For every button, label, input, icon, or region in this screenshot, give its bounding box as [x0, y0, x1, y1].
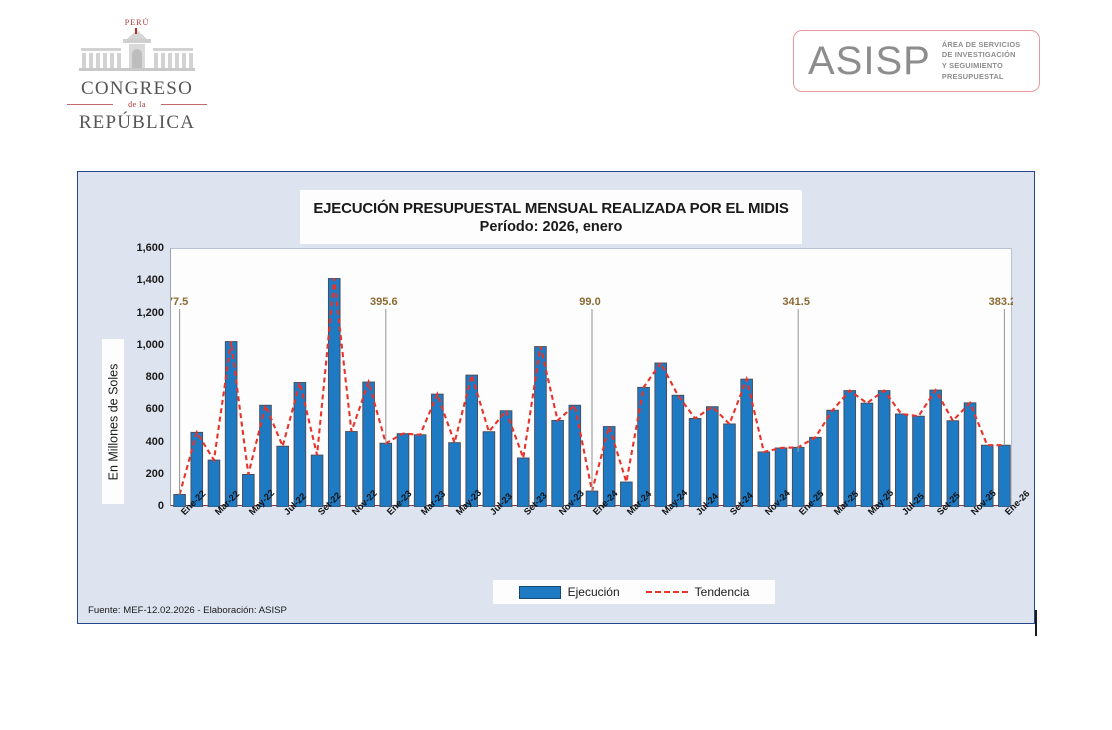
congreso-peru-label: PERÚ [125, 18, 149, 27]
y-axis-tick: 0 [158, 500, 164, 512]
chart-bar [208, 460, 220, 507]
y-axis-tick: 1,000 [136, 339, 164, 351]
chart-bar [827, 410, 839, 507]
congreso-building-icon [79, 28, 195, 76]
asisp-subtitle-line3: Y SEGUIMIENTO [942, 61, 1021, 72]
chart-bar [689, 418, 701, 507]
y-axis-tick: 200 [146, 468, 164, 480]
congreso-republica-logo: PERÚ CONGRES [62, 18, 212, 123]
page-header: PERÚ CONGRES [0, 0, 1112, 150]
y-axis-tick: 1,200 [136, 307, 164, 319]
annotation-label: 77.5 [171, 296, 188, 308]
plot-area: 77.5395.699.0341.5383.2 [170, 248, 1012, 506]
asisp-logo: ASISP ÁREA DE SERVICIOS DE INVESTIGACIÓN… [793, 30, 1040, 92]
y-axis-tick: 800 [146, 371, 164, 383]
y-axis-tick: 600 [146, 403, 164, 415]
annotation-label: 341.5 [782, 296, 810, 308]
annotation-label: 395.6 [370, 296, 398, 308]
chart-bar [449, 443, 461, 507]
legend-dash-swatch [646, 591, 688, 593]
chart-bar [861, 403, 873, 507]
chart-bar [638, 387, 650, 507]
chart-bar [724, 424, 736, 507]
plot-wrapper: 02004006008001,0001,2001,4001,600 77.539… [123, 248, 1014, 508]
y-axis-label-text: En Millones de Soles [106, 363, 120, 480]
chart-bar [930, 390, 942, 507]
y-axis-label: En Millones de Soles [102, 339, 124, 504]
congreso-republica: REPÚBLICA [79, 113, 195, 133]
x-axis-ticks: Ene-22Mar-22May-22Jul-22Set-22Nov-22Ene-… [170, 510, 1015, 570]
congreso-dela: de la [67, 100, 207, 109]
chart-title: EJECUCIÓN PRESUPUESTAL MENSUAL REALIZADA… [300, 190, 802, 244]
legend-item-tendencia: Tendencia [646, 585, 750, 599]
chart-bar [380, 443, 392, 507]
annotation-label: 99.0 [579, 296, 600, 308]
page-edge-mark [1035, 610, 1037, 636]
chart-bar [311, 455, 323, 507]
congreso-name: CONGRESO [81, 79, 193, 99]
asisp-subtitle-line1: ÁREA DE SERVICIOS [942, 40, 1021, 51]
chart-title-subtitle: Período: 2026, enero [480, 219, 623, 235]
chart-bar [414, 435, 426, 507]
legend-bar-swatch [519, 586, 561, 599]
legend-label-ejecucion: Ejecución [568, 585, 620, 599]
chart-source-note: Fuente: MEF-12.02.2026 - Elaboración: AS… [88, 605, 287, 616]
chart-bar [242, 474, 254, 507]
chart-title-main: EJECUCIÓN PRESUPUESTAL MENSUAL REALIZADA… [313, 200, 788, 217]
legend-item-ejecucion: Ejecución [519, 585, 620, 599]
chart-bar [999, 445, 1011, 507]
asisp-subtitle: ÁREA DE SERVICIOS DE INVESTIGACIÓN Y SEG… [942, 40, 1021, 83]
chart-svg: 77.5395.699.0341.5383.2 [171, 249, 1013, 507]
asisp-subtitle-line4: PRESUPUESTAL [942, 72, 1021, 83]
chart-bar [964, 403, 976, 507]
chart-bar [552, 420, 564, 507]
y-axis-ticks: 02004006008001,0001,2001,4001,600 [123, 248, 168, 508]
chart-bar [517, 458, 529, 507]
annotation-label: 383.2 [989, 296, 1013, 308]
asisp-wordmark: ASISP [808, 41, 931, 81]
legend-label-tendencia: Tendencia [695, 585, 750, 599]
y-axis-tick: 400 [146, 436, 164, 448]
chart-bar [483, 432, 495, 507]
asisp-subtitle-line2: DE INVESTIGACIÓN [942, 50, 1021, 61]
chart-legend: Ejecución Tendencia [493, 580, 775, 604]
chart-card: EJECUCIÓN PRESUPUESTAL MENSUAL REALIZADA… [77, 171, 1035, 624]
chart-bar [895, 414, 907, 507]
chart-bar [792, 447, 804, 507]
y-axis-tick: 1,600 [136, 242, 164, 254]
chart-bar [758, 452, 770, 507]
y-axis-tick: 1,400 [136, 274, 164, 286]
chart-bar [655, 363, 667, 507]
chart-bar [346, 432, 358, 507]
chart-bar [277, 446, 289, 507]
